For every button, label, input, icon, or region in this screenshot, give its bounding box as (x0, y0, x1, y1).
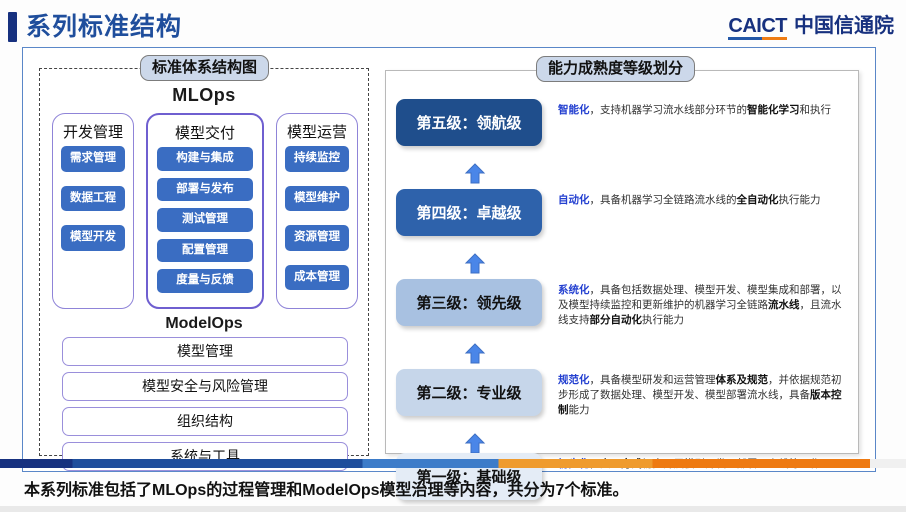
column-model-delivery: 模型交付 构建与集成 部署与发布 测试管理 配置管理 度量与反馈 (146, 113, 264, 309)
chip-model-development[interactable]: 模型开发 (61, 225, 125, 251)
chip-data-engineering[interactable]: 数据工程 (61, 186, 125, 212)
chip-build-integration[interactable]: 构建与集成 (157, 147, 253, 171)
up-arrow-icon (464, 343, 486, 365)
page-title: 系列标准结构 (8, 10, 408, 44)
maturity-row-level3: 第三级：领先级 系统化，具备包括数据处理、模型开发、模型集成和部署，以及模型持续… (396, 279, 850, 329)
level-box-4[interactable]: 第四级：卓越级 (396, 189, 542, 236)
modelops-heading: ModelOps (40, 315, 368, 333)
chip-metrics-feedback[interactable]: 度量与反馈 (157, 269, 253, 293)
column-dev-management: 开发管理 需求管理 数据工程 模型开发 (52, 113, 134, 309)
level-desc-part-a: ，具备模型研发和运营管理 (590, 374, 716, 386)
logo-mark-text: CAICT (728, 16, 787, 40)
footer-gradient-bar (0, 459, 906, 468)
standard-architecture-panel: 标准体系结构图 MLOps 开发管理 需求管理 数据工程 模型开发 模型交付 构… (39, 68, 369, 456)
chip-test-management[interactable]: 测试管理 (157, 208, 253, 232)
level-desc-emph: 体系及规范 (716, 374, 769, 386)
level-keyword: 规范化 (558, 374, 590, 386)
column-heading: 模型交付 (175, 122, 235, 143)
column-heading: 模型运营 (287, 121, 347, 142)
modelops-item-organization[interactable]: 组织结构 (62, 407, 348, 436)
level-desc-4: 自动化，具备机器学习全链路流水线的全自动化执行能力 (558, 189, 846, 208)
slide-canvas: 系列标准结构 CAICT 中国信通院 标准体系结构图 MLOps 开发管理 需求… (0, 0, 906, 512)
level-desc-part-a: ，支持机器学习流水线部分环节的 (590, 104, 748, 116)
level-desc-5: 智能化，支持机器学习流水线部分环节的智能化学习和执行 (558, 99, 846, 118)
modelops-list: 模型管理 模型安全与风险管理 组织结构 系统与工具 (62, 337, 348, 477)
column-model-operations: 模型运营 持续监控 模型维护 资源管理 成本管理 (276, 113, 358, 309)
maturity-level-panel: 能力成熟度等级划分 第五级：领航级 智能化，支持机器学习流水线部分环节的智能化学… (385, 70, 859, 454)
maturity-row-level5: 第五级：领航级 智能化，支持机器学习流水线部分环节的智能化学习和执行 (396, 99, 850, 146)
level-box-5[interactable]: 第五级：领航级 (396, 99, 542, 146)
up-arrow-icon (464, 163, 486, 185)
logo-chinese-name: 中国信通院 (794, 16, 894, 40)
level-desc-part-a: ，具备机器学习全链路流水线的 (590, 194, 737, 206)
mlops-heading: MLOps (40, 85, 368, 106)
logo-mark-label: CAICT (728, 15, 787, 37)
level-box-2[interactable]: 第二级：专业级 (396, 369, 542, 416)
level-desc-2: 规范化，具备模型研发和运营管理体系及规范，并依据规范初步形成了数据处理、模型开发… (558, 369, 846, 419)
column-heading: 开发管理 (63, 121, 123, 142)
chip-config-management[interactable]: 配置管理 (157, 239, 253, 263)
level-desc-emph2: 部分自动化 (590, 314, 643, 326)
chip-continuous-monitoring[interactable]: 持续监控 (285, 146, 349, 172)
level-box-3[interactable]: 第三级：领先级 (396, 279, 542, 326)
level-keyword: 智能化 (558, 104, 590, 116)
modelops-item-security-risk[interactable]: 模型安全与风险管理 (62, 372, 348, 401)
chip-requirement-management[interactable]: 需求管理 (61, 146, 125, 172)
level-desc-part-b: 执行能力 (779, 194, 821, 206)
chip-deploy-release[interactable]: 部署与发布 (157, 178, 253, 202)
chip-cost-management[interactable]: 成本管理 (285, 265, 349, 291)
level-keyword: 系统化 (558, 284, 590, 296)
maturity-row-level2: 第二级：专业级 规范化，具备模型研发和运营管理体系及规范，并依据规范初步形成了数… (396, 369, 850, 419)
level-desc-emph: 流水线 (768, 299, 800, 311)
modelops-item-model-management[interactable]: 模型管理 (62, 337, 348, 366)
bottom-edge-strip (0, 506, 906, 512)
standard-architecture-title-pill: 标准体系结构图 (140, 55, 269, 81)
caict-logo: CAICT 中国信通院 (728, 16, 894, 40)
mlops-columns: 开发管理 需求管理 数据工程 模型开发 模型交付 构建与集成 部署与发布 测试管… (52, 113, 358, 309)
level-desc-3: 系统化，具备包括数据处理、模型开发、模型集成和部署，以及模型持续监控和更新维护的… (558, 279, 846, 329)
footer-caption: 本系列标准包括了MLOps的过程管理和ModelOps模型治理等内容，共分为7个… (0, 470, 906, 506)
chip-model-maintenance[interactable]: 模型维护 (285, 186, 349, 212)
up-arrow-icon (464, 433, 486, 455)
maturity-row-level4: 第四级：卓越级 自动化，具备机器学习全链路流水线的全自动化执行能力 (396, 189, 850, 236)
level-desc-part-c: 执行能力 (642, 314, 684, 326)
chip-resource-management[interactable]: 资源管理 (285, 225, 349, 251)
up-arrow-icon (464, 253, 486, 275)
logo-underline-bar (728, 37, 787, 40)
title-accent-bar (8, 12, 17, 42)
level-desc-emph: 智能化学习 (747, 104, 800, 116)
content-frame: 标准体系结构图 MLOps 开发管理 需求管理 数据工程 模型开发 模型交付 构… (22, 47, 876, 472)
level-desc-part-b: 和执行 (800, 104, 832, 116)
level-keyword: 自动化 (558, 194, 590, 206)
maturity-levels: 第五级：领航级 智能化，支持机器学习流水线部分环节的智能化学习和执行 第四级：卓… (386, 71, 858, 453)
level-desc-emph: 全自动化 (737, 194, 779, 206)
title-text: 系列标准结构 (26, 15, 182, 40)
level-desc-part-c: 能力 (569, 404, 590, 416)
